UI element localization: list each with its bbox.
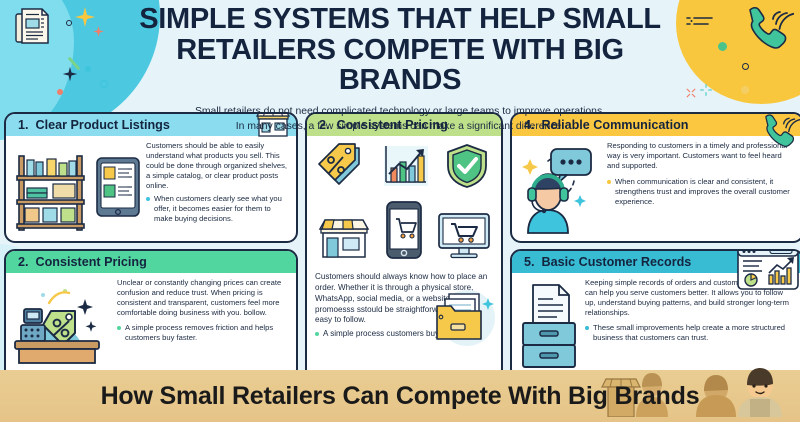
percent-tag-icon	[317, 142, 369, 195]
shelf-icon	[12, 141, 90, 237]
cash-register-icon	[12, 278, 112, 374]
card-number: 5.	[524, 255, 535, 269]
card-consistent-pricing-left[interactable]: 2. Consistent Pricing	[4, 249, 298, 380]
card-title: Basic Customer Records	[542, 255, 692, 269]
bullet-dot-icon	[315, 332, 319, 336]
card-bullet-row: When customers clearly see what you offe…	[146, 194, 288, 224]
card-body-3: Customers should always know how to plac…	[307, 136, 501, 378]
card-paragraph: Customers should be able to easily under…	[146, 141, 288, 191]
desktop-cart-icon	[437, 211, 491, 264]
headset-agent-icon	[518, 141, 602, 237]
header: SIMPLE SYSTEMS THAT HELP SMALL RETAILERS…	[0, 4, 800, 134]
infographic-canvas: SIMPLE SYSTEMS THAT HELP SMALL RETAILERS…	[0, 0, 800, 422]
bullet-dot-icon	[585, 326, 589, 330]
storefront-icon	[317, 213, 371, 264]
card-number: 2.	[18, 255, 29, 269]
card-bullet-text: These small improvements help create a m…	[593, 323, 794, 343]
card-consistent-pricing-middle[interactable]: 2. Consistent Pricing	[305, 112, 503, 380]
card-basic-customer-records[interactable]: 5. Basic Customer Records K	[510, 249, 800, 380]
folder-documents-icon	[431, 286, 497, 353]
card-title: Consistent Pricing	[36, 255, 147, 269]
page-title: SIMPLE SYSTEMS THAT HELP SMALL RETAILERS…	[0, 4, 800, 96]
card-bullet-row: When communication is clear and consiste…	[607, 177, 794, 207]
card-bullet-row: A simple process removes friction and he…	[117, 323, 288, 343]
bullet-dot-icon	[607, 180, 611, 184]
page-subtitle: Small retailers do not need complicated …	[0, 104, 800, 134]
card-bullet-row: These small improvements help create a m…	[585, 323, 794, 343]
dashboard-analytics-icon	[737, 249, 799, 295]
list-lines-icon	[686, 14, 714, 35]
footer-title: How Small Retailers Can Compete With Big…	[101, 382, 700, 411]
phone-ringing-icon	[740, 2, 794, 57]
tablet-listing-icon	[95, 141, 141, 237]
file-cabinet-icon	[518, 278, 580, 374]
shopkeepers-icon	[692, 365, 792, 422]
bullet-dot-icon	[146, 197, 150, 201]
footer-banner: How Small Retailers Can Compete With Big…	[0, 370, 800, 422]
subtitle-line-1: Small retailers do not need complicated …	[0, 104, 800, 119]
card-bullet-text: When customers clearly see what you offe…	[154, 194, 288, 224]
card-copy-4: Responding to customers in a timely and …	[607, 141, 794, 237]
newspaper-icon	[14, 6, 50, 51]
card-header-2: 2. Consistent Pricing	[6, 251, 296, 273]
bullet-dot-icon	[117, 326, 121, 330]
growth-chart-icon	[380, 142, 432, 195]
card-paragraph: Unclear or constantly changing prices ca…	[117, 278, 288, 318]
card-copy-1: Customers should be able to easily under…	[146, 141, 288, 237]
card-bullet-text: A simple process removes friction and he…	[125, 323, 288, 343]
card-bullet-text: When communication is clear and consiste…	[615, 177, 794, 207]
subtitle-line-2: In many cases, a few simple systems can …	[0, 119, 800, 134]
shield-check-icon	[443, 142, 491, 195]
card-copy-2: Unclear or constantly changing prices ca…	[117, 278, 288, 374]
mobile-cart-icon	[386, 201, 422, 264]
card-body-2: Unclear or constantly changing prices ca…	[6, 273, 296, 378]
cards-grid: 1. Clear Product Listings	[0, 112, 800, 374]
card-body-4: Responding to customers in a timely and …	[512, 136, 800, 241]
card-body-1: Customers should be able to easily under…	[6, 136, 296, 241]
